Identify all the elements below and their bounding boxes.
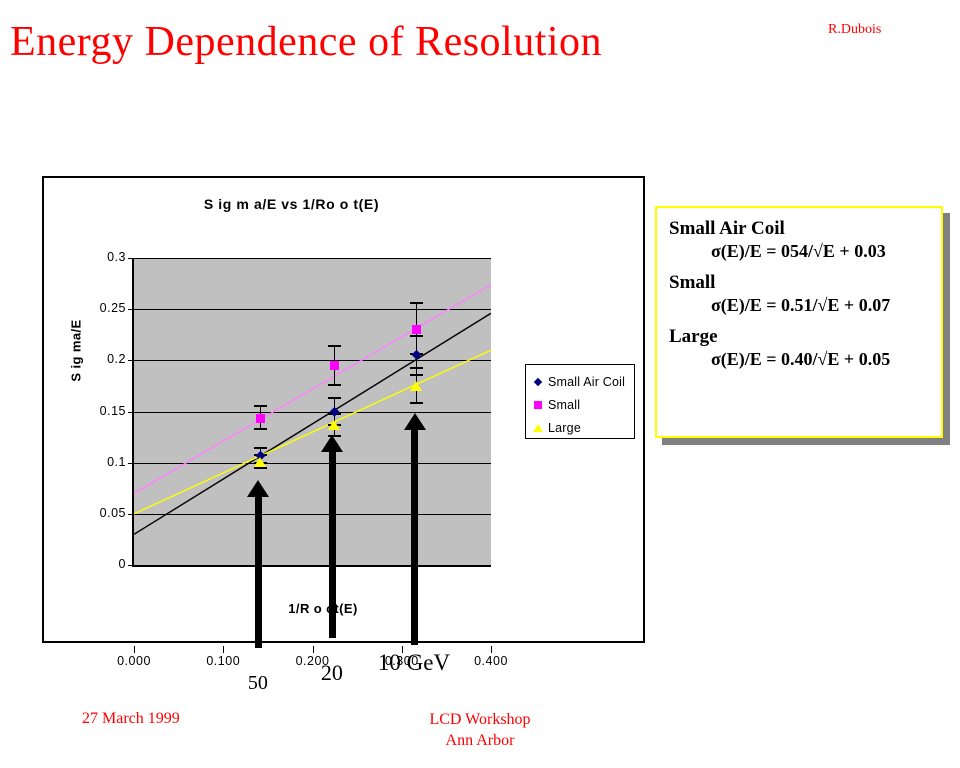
formula-equation: σ(E)/E = 0.40/√E + 0.05: [711, 348, 929, 371]
fit-line-layer: [134, 258, 491, 565]
chart-frame: S ig m a/E vs 1/Ro o t(E) S ig ma/E 1/R …: [42, 176, 645, 643]
legend-item-small[interactable]: Small: [531, 393, 630, 416]
x-tick-mark: [491, 646, 492, 653]
fit-line: [134, 285, 491, 494]
y-tick-mark: [128, 565, 134, 566]
x-tick-label: 0.000: [102, 654, 166, 668]
error-bar-cap: [328, 345, 341, 347]
energy-arrow: [255, 495, 262, 648]
legend-item-large[interactable]: Large: [531, 416, 630, 439]
legend-item-small-air-coil[interactable]: Small Air Coil: [531, 370, 630, 393]
fit-line: [134, 350, 491, 514]
y-tick-label: 0.15: [80, 404, 126, 418]
formula-group-large: Large σ(E)/E = 0.40/√E + 0.05: [669, 326, 929, 371]
error-bar-cap: [410, 302, 423, 304]
data-point-triangle[interactable]: [328, 420, 340, 430]
energy-arrow: [329, 450, 336, 638]
y-tick-label: 0.05: [80, 506, 126, 520]
y-axis-label: S ig ma/E: [69, 301, 84, 401]
formula-name: Small: [669, 272, 929, 294]
error-bar-cap: [410, 402, 423, 404]
data-point-square[interactable]: [412, 325, 421, 334]
error-bar-cap: [410, 367, 423, 369]
square-marker-icon: [531, 401, 545, 409]
y-tick-label: 0.25: [80, 301, 126, 315]
footer-venue-line1: LCD Workshop: [350, 710, 610, 731]
x-tick-mark: [223, 646, 224, 653]
footer-venue: LCD Workshop Ann Arbor: [350, 710, 610, 752]
formula-group-small-air-coil: Small Air Coil σ(E)/E = 054/√E + 0.03: [669, 218, 929, 263]
footer-date: 27 March 1999: [82, 710, 180, 728]
y-tick-label: 0: [80, 557, 126, 571]
footer-venue-line2: Ann Arbor: [350, 731, 610, 752]
error-bar-cap: [254, 405, 267, 407]
error-bar-cap: [328, 397, 341, 399]
data-point-triangle[interactable]: [410, 381, 422, 391]
legend-label: Large: [548, 421, 581, 435]
author-credit: R.Dubois: [828, 22, 881, 38]
error-bar-cap: [254, 447, 267, 449]
y-tick-label: 0.2: [80, 352, 126, 366]
x-tick-mark: [313, 646, 314, 653]
formula-box: Small Air Coil σ(E)/E = 054/√E + 0.03 Sm…: [655, 206, 943, 438]
energy-label: 10 GeV: [354, 650, 474, 676]
data-point-triangle[interactable]: [254, 457, 266, 467]
formula-equation: σ(E)/E = 054/√E + 0.03: [711, 240, 929, 263]
formula-name: Large: [669, 326, 929, 348]
legend-label: Small Air Coil: [548, 375, 625, 389]
y-tick-label: 0.3: [80, 250, 126, 264]
formula-name: Small Air Coil: [669, 218, 929, 240]
legend-label: Small: [548, 398, 580, 412]
error-bar-cap: [254, 428, 267, 430]
error-bar-cap: [328, 384, 341, 386]
formula-equation: σ(E)/E = 0.51/√E + 0.07: [711, 294, 929, 317]
x-tick-mark: [134, 646, 135, 653]
y-tick-label: 0.1: [80, 455, 126, 469]
energy-arrow: [411, 428, 418, 645]
data-point-square[interactable]: [330, 361, 339, 370]
data-point-square[interactable]: [256, 414, 265, 423]
triangle-marker-icon: [531, 424, 545, 432]
error-bar-cap: [254, 467, 267, 469]
x-tick-label: 0.100: [191, 654, 255, 668]
page-title: Energy Dependence of Resolution: [10, 18, 710, 66]
fit-line: [134, 313, 491, 534]
plot-area: 00.050.10.150.20.250.30.0000.1000.2000.3…: [132, 258, 491, 567]
chart-legend: Small Air Coil Small Large: [525, 364, 635, 439]
formula-group-small: Small σ(E)/E = 0.51/√E + 0.07: [669, 272, 929, 317]
chart-title: S ig m a/E vs 1/Ro o t(E): [44, 196, 539, 212]
diamond-marker-icon: [531, 379, 545, 385]
